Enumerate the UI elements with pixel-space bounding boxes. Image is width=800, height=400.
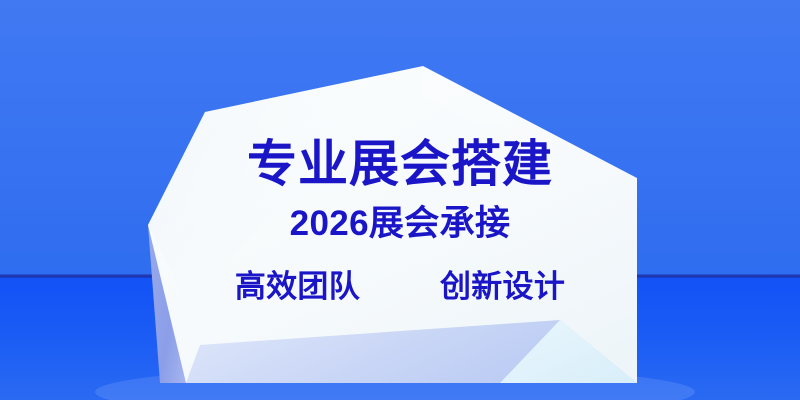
banner-background-scene: [0, 0, 800, 400]
promo-banner: 专业展会搭建 2026展会承接 高效团队 创新设计: [0, 0, 800, 400]
